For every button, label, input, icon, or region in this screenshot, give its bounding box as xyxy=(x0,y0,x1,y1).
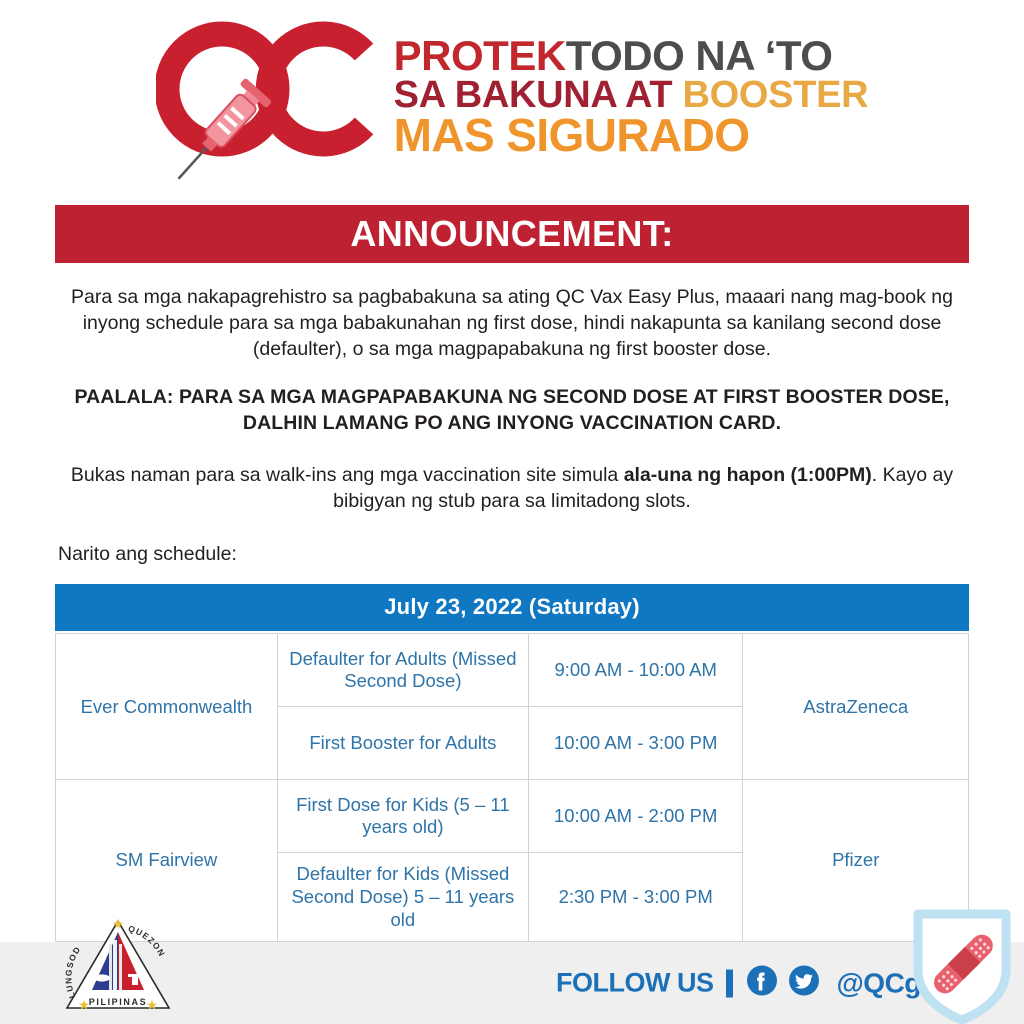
cell-site: Ever Commonwealth xyxy=(56,634,278,780)
seal-label-pilipinas: PILIPINAS xyxy=(89,997,147,1007)
facebook-icon[interactable] xyxy=(746,965,778,1002)
reminder-paragraph: PAALALA: PARA SA MGA MAGPAPABAKUNA NG SE… xyxy=(55,385,969,437)
divider xyxy=(726,969,733,997)
cell-vaccine: AstraZeneca xyxy=(743,634,969,780)
cell-dose-type: Defaulter for Kids (Missed Second Dose) … xyxy=(277,853,528,942)
tagline-todo-na-to: TODO NA ‘TO xyxy=(566,32,833,79)
schedule-lead: Narito ang schedule: xyxy=(55,542,969,568)
announcement-banner: ANNOUNCEMENT: xyxy=(55,205,969,263)
cell-time: 9:00 AM - 10:00 AM xyxy=(528,634,743,707)
body-copy: Para sa mga nakapagrehistro sa pagbabaku… xyxy=(0,285,1024,568)
cell-dose-type: First Dose for Kids (5 – 11 years old) xyxy=(277,780,528,853)
schedule-table: Ever Commonwealth Defaulter for Adults (… xyxy=(55,633,969,942)
tagline-protek: PROTEK xyxy=(394,32,566,79)
cell-dose-type: First Booster for Adults xyxy=(277,707,528,780)
table-row: Ever Commonwealth Defaulter for Adults (… xyxy=(56,634,969,707)
walkin-time-bold: ala-una ng hapon (1:00PM) xyxy=(624,464,872,486)
follow-us-block: FOLLOW US @QCgov xyxy=(556,965,953,1002)
header-logo-lockup: PROTEKTODO NA ‘TO SA BAKUNA AT BOOSTER M… xyxy=(0,0,1024,196)
footer: LUNGSOD QUEZON PILIPINAS FOLLOW US xyxy=(0,942,1024,1024)
cell-time: 10:00 AM - 3:00 PM xyxy=(528,707,743,780)
shield-bandage-check-icon xyxy=(908,906,1016,1024)
tagline-line-3: MAS SIGURADO xyxy=(394,113,869,158)
tagline-line-1: PROTEKTODO NA ‘TO xyxy=(394,36,869,77)
follow-us-label: FOLLOW US xyxy=(556,968,713,999)
schedule-table-wrapper: July 23, 2022 (Saturday) Ever Commonweal… xyxy=(55,584,969,942)
schedule-date-header: July 23, 2022 (Saturday) xyxy=(55,584,969,631)
cell-dose-type: Defaulter for Adults (Missed Second Dose… xyxy=(277,634,528,707)
twitter-icon[interactable] xyxy=(788,965,820,1002)
intro-paragraph: Para sa mga nakapagrehistro sa pagbabaku… xyxy=(55,285,969,363)
cell-time: 2:30 PM - 3:00 PM xyxy=(528,853,743,942)
qc-logo-svg xyxy=(156,21,388,185)
announcement-title: ANNOUNCEMENT: xyxy=(350,213,673,255)
tagline-line-2: SA BAKUNA AT BOOSTER xyxy=(394,77,869,114)
cell-time: 10:00 AM - 2:00 PM xyxy=(528,780,743,853)
tagline: PROTEKTODO NA ‘TO SA BAKUNA AT BOOSTER M… xyxy=(394,36,869,166)
walkin-paragraph: Bukas naman para sa walk-ins ang mga vac… xyxy=(55,463,969,515)
walkin-text-pre: Bukas naman para sa walk-ins ang mga vac… xyxy=(71,464,624,486)
quezon-city-seal-icon: LUNGSOD QUEZON PILIPINAS xyxy=(62,916,174,1014)
qc-logo xyxy=(156,21,388,181)
table-row: SM Fairview First Dose for Kids (5 – 11 … xyxy=(56,780,969,853)
